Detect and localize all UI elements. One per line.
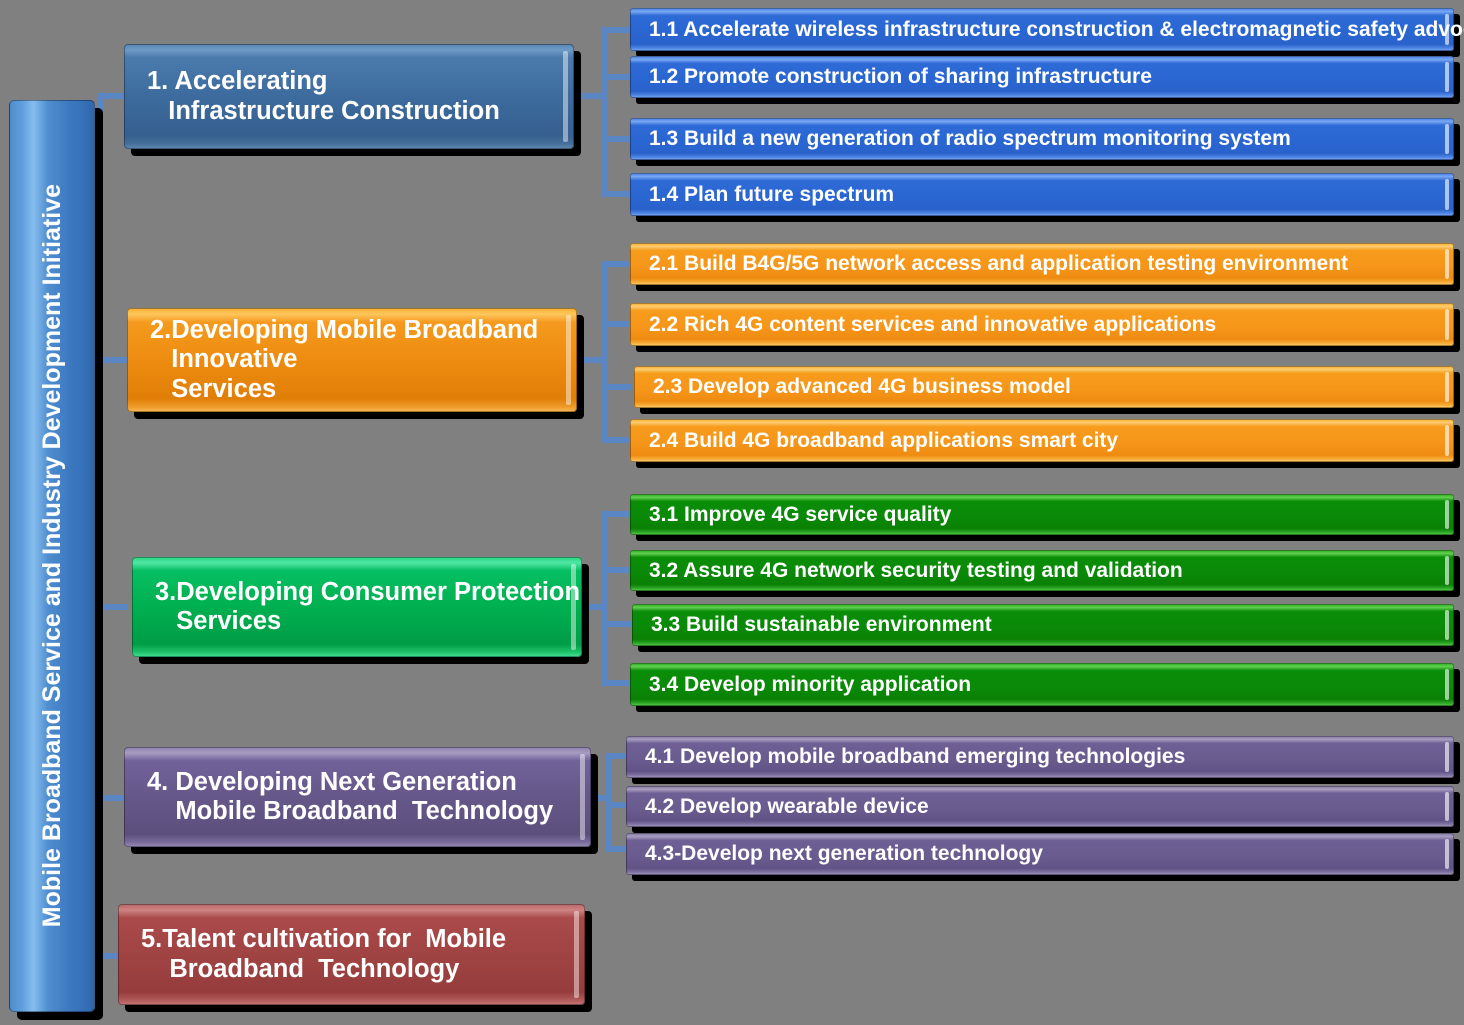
connector-branch-1-spine <box>602 27 608 197</box>
connector-branch-3-item-3 <box>602 621 632 627</box>
branch-3-item-3-box[interactable]: 3.3 Build sustainable environment <box>632 604 1454 646</box>
branch-1-item-1-box[interactable]: 1.1 Accelerate wireless infrastructure c… <box>630 8 1454 51</box>
branch-1-item-2-label: 1.2 Promote construction of sharing infr… <box>649 65 1152 89</box>
branch-3-item-1-label: 3.1 Improve 4G service quality <box>649 503 951 527</box>
branch-2-item-2-label: 2.2 Rich 4G content services and innovat… <box>649 313 1216 337</box>
branch-3-item-1-box[interactable]: 3.1 Improve 4G service quality <box>630 494 1454 535</box>
branch-3-item-4-label: 3.4 Develop minority application <box>649 673 971 697</box>
branch-5-main-box[interactable]: 5.Talent cultivation for Mobile Broadban… <box>118 904 585 1005</box>
branch-4-item-2-box[interactable]: 4.2 Develop wearable device <box>626 786 1454 827</box>
branch-1-label: 1. Accelerating Infrastructure Construct… <box>147 67 500 125</box>
connector-root-to-branch-3 <box>98 604 128 610</box>
branch-3-item-2-label: 3.2 Assure 4G network security testing a… <box>649 559 1183 583</box>
branch-2-item-4-box[interactable]: 2.4 Build 4G broadband applications smar… <box>630 419 1454 462</box>
connector-root-spine <box>98 93 104 959</box>
connector-branch-3-item-4 <box>602 680 632 686</box>
branch-3-main-box[interactable]: 3.Developing Consumer Protection Service… <box>132 557 582 657</box>
branch-2-label: 2.Developing Mobile Broadband Innovative… <box>150 316 538 403</box>
branch-3-item-4-box[interactable]: 3.4 Develop minority application <box>630 663 1454 706</box>
branch-1-main-box[interactable]: 1. Accelerating Infrastructure Construct… <box>124 44 574 149</box>
branch-2-item-3-label: 2.3 Develop advanced 4G business model <box>653 375 1071 399</box>
connector-root-to-branch-2 <box>98 357 128 363</box>
branch-1-item-3-label: 1.3 Build a new generation of radio spec… <box>649 127 1291 151</box>
branch-2-main-box[interactable]: 2.Developing Mobile Broadband Innovative… <box>127 308 577 412</box>
branch-1-item-2-box[interactable]: 1.2 Promote construction of sharing infr… <box>630 56 1454 98</box>
branch-2-item-2-box[interactable]: 2.2 Rich 4G content services and innovat… <box>630 303 1454 346</box>
connector-branch-3-item-1 <box>602 511 632 517</box>
branch-1-item-4-label: 1.4 Plan future spectrum <box>649 183 894 207</box>
branch-5-label: 5.Talent cultivation for Mobile Broadban… <box>141 925 506 983</box>
connector-branch-2-item-3 <box>602 384 632 390</box>
branch-1-item-3-box[interactable]: 1.3 Build a new generation of radio spec… <box>630 118 1454 160</box>
branch-4-label: 4. Developing Next Generation Mobile Bro… <box>147 768 553 826</box>
diagram-canvas: Mobile Broadband Service and Industry De… <box>0 0 1464 1025</box>
branch-3-item-3-label: 3.3 Build sustainable environment <box>651 613 992 637</box>
branch-3-label: 3.Developing Consumer Protection Service… <box>155 578 580 636</box>
branch-4-main-box[interactable]: 4. Developing Next Generation Mobile Bro… <box>124 747 591 847</box>
branch-2-item-4-label: 2.4 Build 4G broadband applications smar… <box>649 429 1118 453</box>
branch-4-item-3-label: 4.3-Develop next generation technology <box>645 842 1043 866</box>
root-title-box[interactable]: Mobile Broadband Service and Industry De… <box>9 100 95 1012</box>
connector-branch-2-item-1 <box>602 261 632 267</box>
branch-4-item-2-label: 4.2 Develop wearable device <box>645 795 929 819</box>
connector-branch-1-item-4 <box>602 191 632 197</box>
root-title-text: Mobile Broadband Service and Industry De… <box>40 184 65 927</box>
branch-1-item-1-label: 1.1 Accelerate wireless infrastructure c… <box>649 18 1464 42</box>
branch-2-item-3-box[interactable]: 2.3 Develop advanced 4G business model <box>634 366 1454 408</box>
connector-branch-1-item-3 <box>602 136 632 142</box>
connector-branch-2-spine <box>602 261 608 438</box>
connector-branch-2-item-2 <box>602 321 632 327</box>
connector-branch-3-spine <box>602 511 608 686</box>
branch-1-item-4-box[interactable]: 1.4 Plan future spectrum <box>630 173 1454 216</box>
branch-4-item-3-box[interactable]: 4.3-Develop next generation technology <box>626 833 1454 875</box>
connector-branch-1-item-1 <box>602 27 632 33</box>
connector-branch-1-item-2 <box>602 74 632 80</box>
branch-2-item-1-label: 2.1 Build B4G/5G network access and appl… <box>649 252 1348 276</box>
branch-4-item-1-box[interactable]: 4.1 Develop mobile broadband emerging te… <box>626 736 1454 778</box>
branch-4-item-1-label: 4.1 Develop mobile broadband emerging te… <box>645 745 1185 769</box>
connector-branch-3-item-2 <box>602 567 632 573</box>
connector-branch-2-item-4 <box>602 437 632 443</box>
branch-3-item-2-box[interactable]: 3.2 Assure 4G network security testing a… <box>630 550 1454 591</box>
branch-2-item-1-box[interactable]: 2.1 Build B4G/5G network access and appl… <box>630 243 1454 285</box>
